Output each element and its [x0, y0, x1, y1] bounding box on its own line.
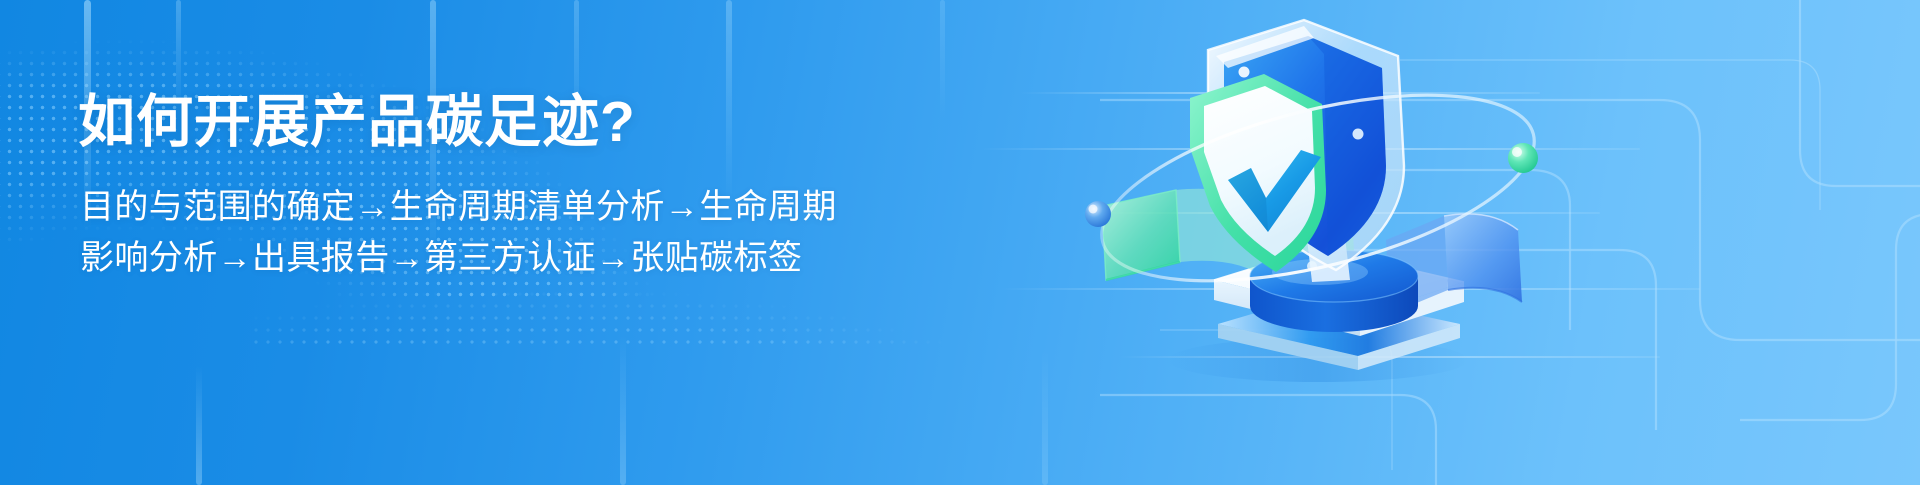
banner-subtitle-line-2: 影响分析→出具报告→第三方认证→张贴碳标签 [80, 233, 870, 283]
shield-rivet [1353, 129, 1364, 140]
banner-title: 如何开展产品碳足迹? [78, 92, 978, 152]
banner-text-block: 如何开展产品碳足迹? 目的与范围的确定→生命周期清单分析→生命周期 影响分析→出… [78, 92, 978, 283]
shield-rivet [1239, 67, 1250, 78]
shield-illustration [1068, 0, 1548, 394]
light-streak-icon [196, 365, 202, 485]
light-streak-icon [1042, 350, 1048, 485]
banner-subtitle-line-1: 目的与范围的确定→生命周期清单分析→生命周期 [80, 182, 870, 232]
orbit-sphere-green [1508, 143, 1538, 173]
promo-banner: 如何开展产品碳足迹? 目的与范围的确定→生命周期清单分析→生命周期 影响分析→出… [0, 0, 1920, 485]
banner-subtitle: 目的与范围的确定→生命周期清单分析→生命周期 影响分析→出具报告→第三方认证→张… [80, 182, 870, 283]
orbit-sphere-blue [1085, 201, 1111, 227]
light-streak-icon [620, 335, 626, 485]
